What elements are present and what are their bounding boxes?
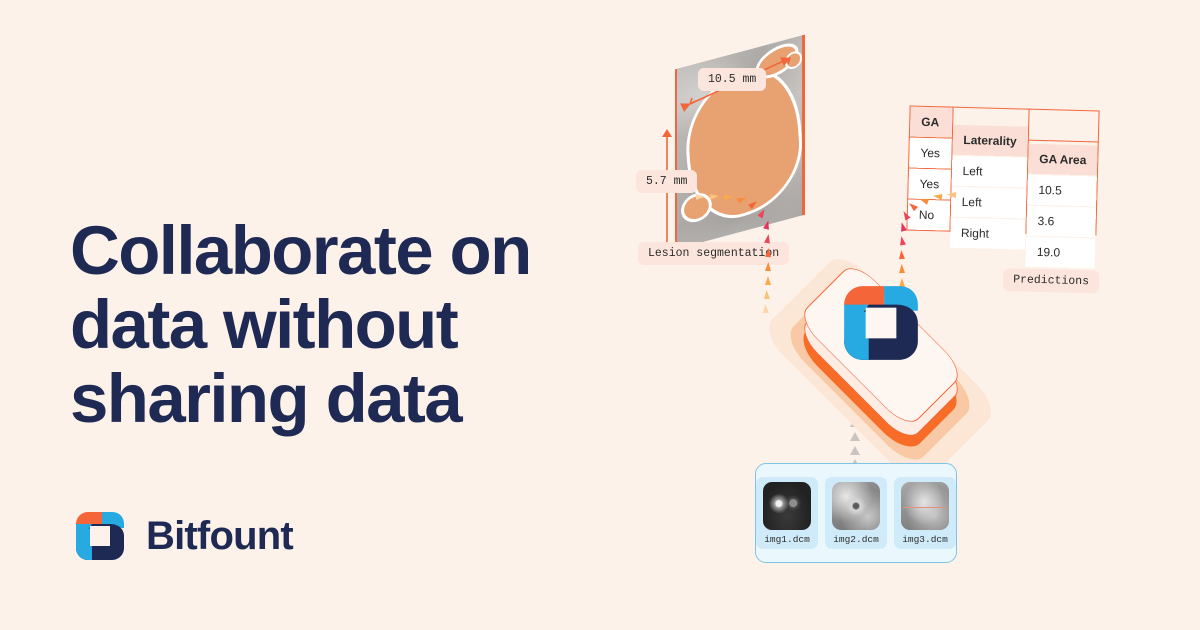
headline-line-2: data without	[70, 288, 590, 362]
dicom-thumbnail-icon	[763, 482, 811, 530]
dicom-filename: img1.dcm	[764, 534, 810, 545]
illustration: 10.5 mm 5.7 mm Lesion segmentation GA La…	[600, 0, 1200, 630]
dicom-thumbnail-icon	[832, 482, 880, 530]
poster-canvas: Collaborate on data without sharing data…	[0, 0, 1200, 630]
page-title: Collaborate on data without sharing data	[70, 214, 590, 435]
dicom-files-card[interactable]: img1.dcm img2.dcm img3.dcm	[755, 463, 957, 563]
list-item[interactable]: img3.dcm	[894, 477, 956, 549]
bitfount-logo-icon	[72, 508, 128, 564]
dicom-filename: img2.dcm	[833, 534, 879, 545]
dicom-thumbnail-icon	[901, 482, 949, 530]
pod-bitfount-logo-icon	[838, 280, 924, 366]
dicom-filename: img3.dcm	[902, 534, 948, 545]
brand-name: Bitfount	[146, 514, 293, 559]
list-item[interactable]: img2.dcm	[825, 477, 887, 549]
headline-line-1: Collaborate on	[70, 214, 590, 288]
headline-line-3: sharing data	[70, 362, 590, 436]
list-item[interactable]: img1.dcm	[756, 477, 818, 549]
bitfount-pod[interactable]	[750, 262, 1010, 442]
brand-logo-lockup: Bitfount	[72, 508, 293, 564]
